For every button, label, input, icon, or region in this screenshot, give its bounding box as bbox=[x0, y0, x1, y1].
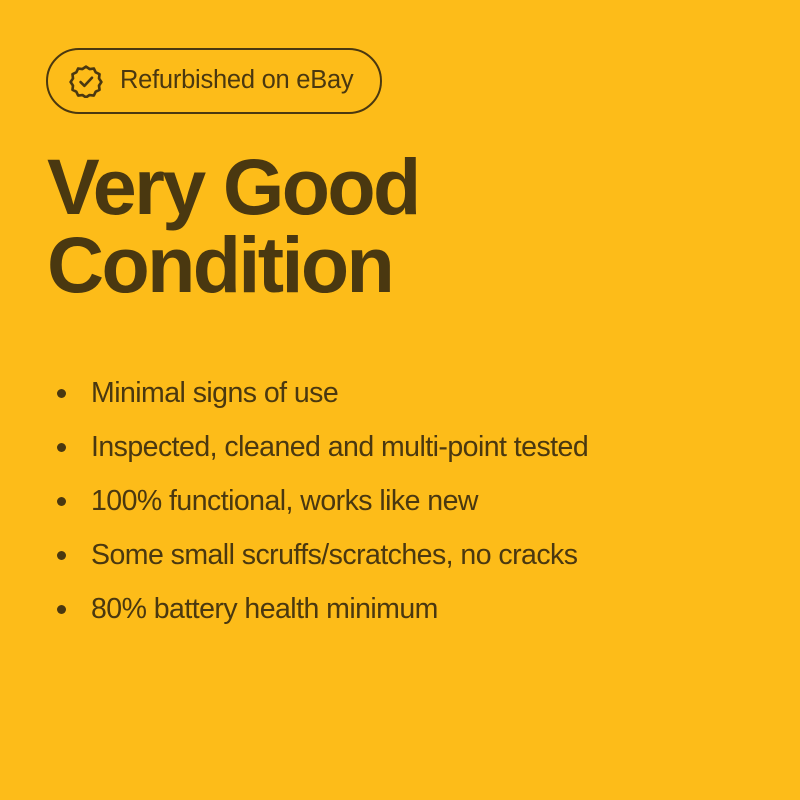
bullet-dot-icon bbox=[57, 497, 66, 506]
list-item-label: 100% functional, works like new bbox=[91, 484, 478, 518]
bullet-dot-icon bbox=[57, 551, 66, 560]
list-item: 100% functional, works like new bbox=[54, 474, 774, 528]
list-item: Inspected, cleaned and multi-point teste… bbox=[54, 420, 774, 474]
refurbished-badge-label: Refurbished on eBay bbox=[120, 68, 353, 94]
list-item-label: 80% battery health minimum bbox=[91, 592, 438, 626]
page-title-line-1: Very Good bbox=[47, 148, 747, 226]
page-title-line-2: Condition bbox=[47, 226, 747, 304]
list-item-label: Some small scruffs/scratches, no cracks bbox=[91, 538, 577, 572]
list-item-label: Minimal signs of use bbox=[91, 376, 338, 410]
condition-feature-list: Minimal signs of use Inspected, cleaned … bbox=[54, 366, 774, 636]
verified-rosette-check-icon bbox=[69, 64, 103, 98]
bullet-dot-icon bbox=[57, 443, 66, 452]
list-item: 80% battery health minimum bbox=[54, 582, 774, 636]
refurbished-condition-card: Refurbished on eBay Very Good Condition … bbox=[0, 0, 800, 800]
list-item: Some small scruffs/scratches, no cracks bbox=[54, 528, 774, 582]
page-title: Very Good Condition bbox=[47, 148, 747, 304]
list-item: Minimal signs of use bbox=[54, 366, 774, 420]
bullet-dot-icon bbox=[57, 605, 66, 614]
refurbished-badge: Refurbished on eBay bbox=[46, 48, 382, 114]
list-item-label: Inspected, cleaned and multi-point teste… bbox=[91, 430, 588, 464]
bullet-dot-icon bbox=[57, 389, 66, 398]
